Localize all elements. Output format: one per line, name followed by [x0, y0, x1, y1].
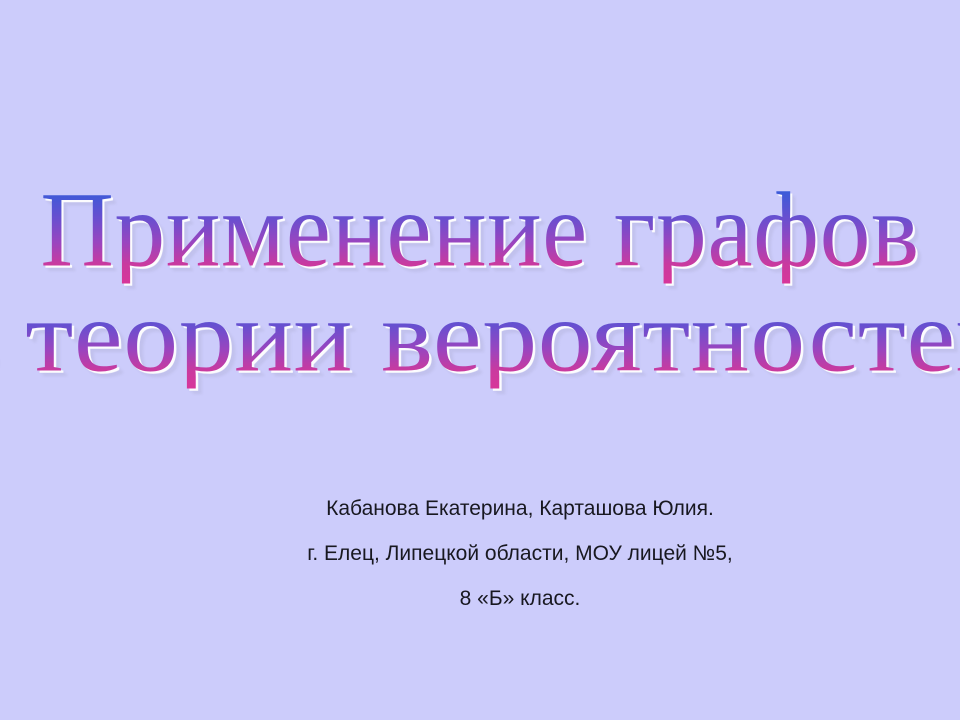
- subtitle-line-authors: Кабанова Екатерина, Карташова Юлия.: [150, 486, 890, 531]
- presentation-slide: Применение графов в теории вероятностей …: [0, 0, 960, 720]
- title-line-2: в теории вероятностей: [0, 286, 960, 389]
- subtitle-line-school: г. Елец, Липецкой области, МОУ лицей №5,: [150, 531, 890, 576]
- slide-subtitle: Кабанова Екатерина, Карташова Юлия. г. Е…: [150, 486, 890, 621]
- slide-title: Применение графов в теории вероятностей: [0, 176, 960, 376]
- subtitle-line-class: 8 «Б» класс.: [150, 576, 890, 621]
- title-line-1: Применение графов: [0, 176, 960, 284]
